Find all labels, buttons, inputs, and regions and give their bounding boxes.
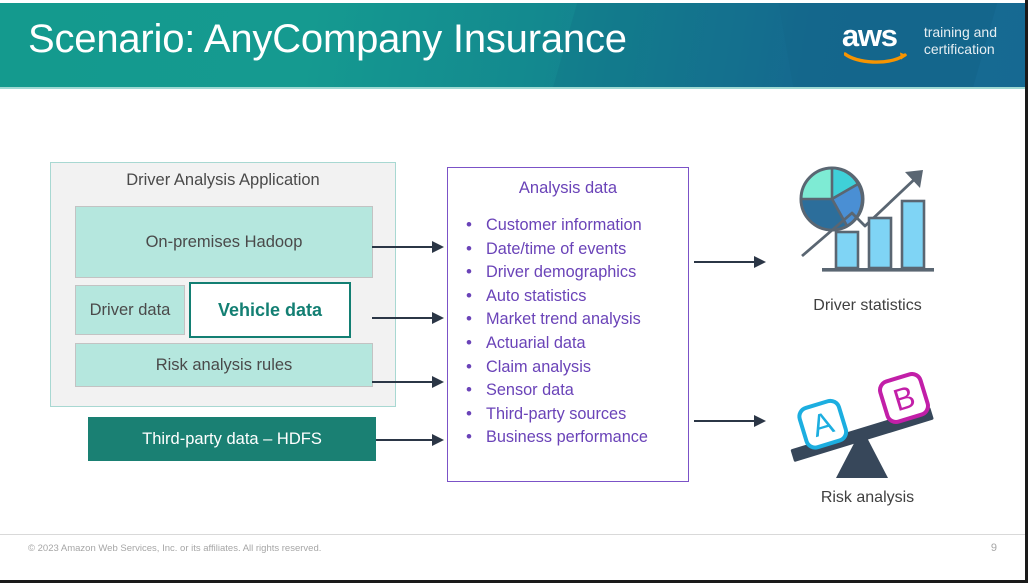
list-item: Auto statistics	[464, 285, 688, 309]
header-underline	[0, 87, 1028, 89]
aws-wordmark: aws	[842, 21, 914, 51]
logo-subtitle-line1: training and	[924, 24, 997, 41]
presentation-slide: Scenario: AnyCompany Insurance aws train…	[0, 0, 1028, 583]
footer-copyright: © 2023 Amazon Web Services, Inc. or its …	[28, 543, 321, 554]
footer-divider	[0, 534, 1025, 535]
pie-bar-chart-icon	[792, 163, 942, 285]
analysis-data-panel: Analysis data Customer information Date/…	[447, 167, 689, 482]
box-driver-data[interactable]: Driver data	[75, 285, 185, 335]
analysis-data-title: Analysis data	[448, 179, 688, 198]
list-item: Customer information	[464, 214, 688, 238]
list-item: Driver demographics	[464, 261, 688, 285]
analysis-data-list: Customer information Date/time of events…	[448, 214, 688, 450]
box-vehicle-data-highlighted[interactable]: Vehicle data	[189, 282, 351, 338]
driver-analysis-application-container: Driver Analysis Application On-premises …	[50, 162, 396, 407]
seesaw-balance-icon: A B	[784, 372, 946, 482]
list-item: Market trend analysis	[464, 308, 688, 332]
box-risk-analysis-rules[interactable]: Risk analysis rules	[75, 343, 373, 387]
aws-logo-mark: aws	[842, 21, 914, 65]
arrow-analysis-to-risk-analysis	[694, 414, 766, 428]
application-title: Driver Analysis Application	[51, 171, 395, 190]
arrow-hadoop-to-analysis	[372, 240, 444, 254]
slide-number: 9	[991, 542, 997, 554]
box-third-party-data-hdfs[interactable]: Third-party data – HDFS	[88, 417, 376, 461]
aws-training-certification-logo: aws training and certification	[842, 21, 997, 65]
list-item: Business performance	[464, 426, 688, 450]
list-item: Sensor data	[464, 379, 688, 403]
arrow-vehicle-to-analysis	[372, 311, 444, 325]
list-item: Claim analysis	[464, 356, 688, 380]
driver-statistics-label: Driver statistics	[760, 297, 975, 315]
logo-subtitle-line2: certification	[924, 41, 997, 58]
aws-smile-icon	[844, 51, 912, 65]
page-title: Scenario: AnyCompany Insurance	[28, 17, 627, 62]
list-item: Actuarial data	[464, 332, 688, 356]
box-on-premises-hadoop[interactable]: On-premises Hadoop	[75, 206, 373, 278]
logo-subtitle: training and certification	[924, 21, 997, 58]
arrow-hdfs-to-analysis	[376, 433, 444, 447]
list-item: Third-party sources	[464, 403, 688, 427]
arrow-analysis-to-driver-statistics	[694, 255, 766, 269]
arrow-rules-to-analysis	[372, 375, 444, 389]
list-item: Date/time of events	[464, 238, 688, 262]
risk-analysis-label: Risk analysis	[760, 489, 975, 507]
